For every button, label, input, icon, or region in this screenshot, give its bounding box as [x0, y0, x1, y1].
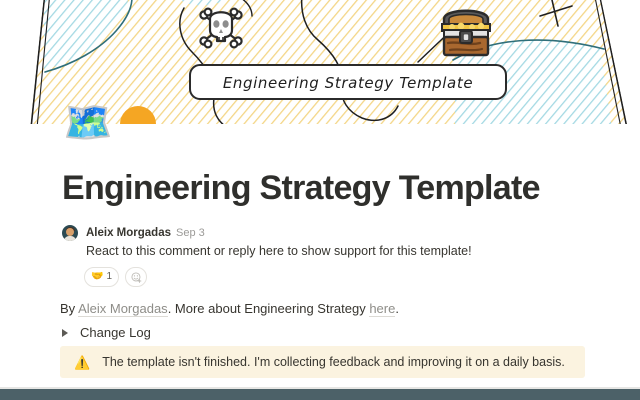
author-link[interactable]: Aleix Morgadas [78, 301, 168, 317]
treasure-chest-icon [442, 11, 490, 55]
byline-suffix: . [395, 301, 399, 316]
avatar[interactable] [62, 225, 78, 241]
comment-block[interactable]: Aleix Morgadas Sep 3 React to this comme… [62, 225, 562, 287]
toggle-label[interactable]: Change Log [80, 324, 151, 342]
comment-text: React to this comment or reply here to s… [86, 243, 562, 260]
callout-text: The template isn't finished. I'm collect… [102, 354, 565, 371]
handshake-icon: 🤝 [91, 268, 103, 286]
cover-banner: Engineering Strategy Template [190, 65, 506, 99]
comment-date: Sep 3 [176, 225, 205, 241]
warning-icon: ⚠️ [74, 356, 90, 369]
cover-banner-label: Engineering Strategy Template [223, 74, 473, 92]
comment-author[interactable]: Aleix Morgadas [86, 225, 171, 241]
byline-middle: . More about Engineering Strategy [168, 301, 370, 316]
comment-reactions: 🤝 1 [84, 267, 562, 287]
toggle-change-log[interactable]: Change Log [62, 324, 151, 342]
byline-prefix: By [60, 301, 78, 316]
bottom-chrome-bar [0, 389, 640, 400]
handshake-reaction-button[interactable]: 🤝 1 [84, 267, 119, 287]
add-reaction-icon [131, 272, 142, 283]
comment-header: Aleix Morgadas Sep 3 [62, 225, 562, 241]
add-reaction-button[interactable] [125, 267, 147, 287]
chevron-right-icon[interactable] [62, 329, 68, 337]
byline-paragraph: By Aleix Morgadas. More about Engineerin… [60, 300, 399, 318]
warning-callout[interactable]: ⚠️ The template isn't finished. I'm coll… [60, 346, 585, 378]
page-title[interactable]: Engineering Strategy Template [62, 168, 540, 208]
reaction-count: 1 [106, 268, 112, 286]
here-link[interactable]: here [369, 301, 395, 317]
page-icon[interactable]: 🗺️ [63, 100, 109, 146]
